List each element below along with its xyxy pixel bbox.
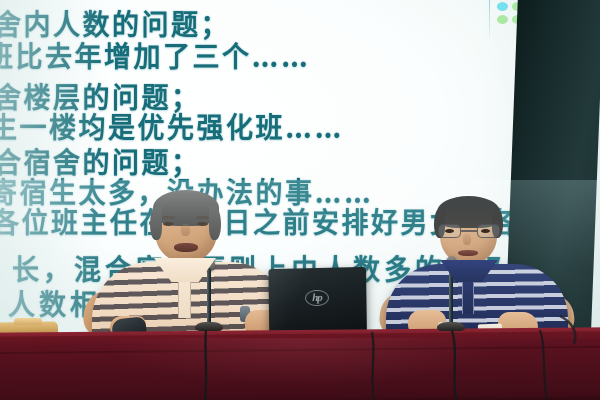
photo-scene: 舍内人数的问题； 班比去年增加了三个…… 舍楼层的问题； 生一楼均是优先强化班…… xyxy=(0,0,600,400)
eyeglass-bridge xyxy=(461,230,477,232)
microphone-cables xyxy=(0,0,600,400)
right-speaker-eye-left xyxy=(445,229,454,233)
right-speaker-eye-right xyxy=(481,229,490,233)
